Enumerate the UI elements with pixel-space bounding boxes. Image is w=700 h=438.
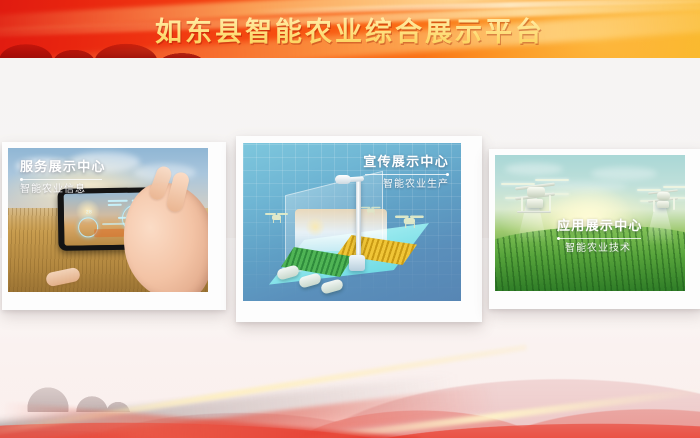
caption-rule [365, 174, 449, 175]
card-application-image: 应用展示中心 智能农业技术 [495, 155, 685, 291]
cloud-shape [505, 163, 563, 175]
card-promotion-subtitle: 智能农业生产 [363, 179, 449, 190]
card-service-caption: 服务展示中心 智能农业信息 [20, 160, 106, 195]
caption-rule [557, 238, 641, 239]
card-application-caption: 应用展示中心 智能农业技术 [557, 219, 643, 254]
sensor-pole-head [335, 175, 351, 184]
card-application-title: 应用展示中心 [557, 219, 643, 233]
water-tank [349, 255, 365, 271]
drone-icon [499, 177, 575, 223]
drone-icon [637, 185, 685, 219]
card-service-subtitle: 智能农业信息 [20, 184, 106, 195]
cloud-shape [591, 167, 657, 180]
card-promotion-image: 宣传展示中心 智能农业生产 [243, 143, 461, 301]
card-promotion-caption: 宣传展示中心 智能农业生产 [363, 155, 449, 190]
hud-bar [108, 204, 122, 206]
sensor-pole [356, 179, 361, 261]
page-title: 如东县智能农业综合展示平台 [0, 0, 700, 58]
hud-chip [94, 229, 124, 238]
header-banner: 如东县智能农业综合展示平台 如东县智能农业综合展示平台 [0, 0, 700, 58]
caption-rule [20, 179, 102, 180]
card-service-display-center[interactable]: 28 服务展示中心 智能农业信息 [2, 142, 226, 310]
card-application-display-center[interactable]: 应用展示中心 智能农业技术 [489, 149, 700, 309]
card-service-image: 28 服务展示中心 智能农业信息 [8, 148, 208, 292]
hud-bar [108, 200, 128, 202]
card-service-title: 服务展示中心 [20, 160, 106, 174]
card-application-subtitle: 智能农业技术 [565, 243, 643, 254]
card-promotion-title: 宣传展示中心 [363, 155, 449, 169]
card-promotion-display-center[interactable]: 宣传展示中心 智能农业生产 [236, 136, 482, 322]
app-root: 如东县智能农业综合展示平台 如东县智能农业综合展示平台 [0, 0, 700, 438]
